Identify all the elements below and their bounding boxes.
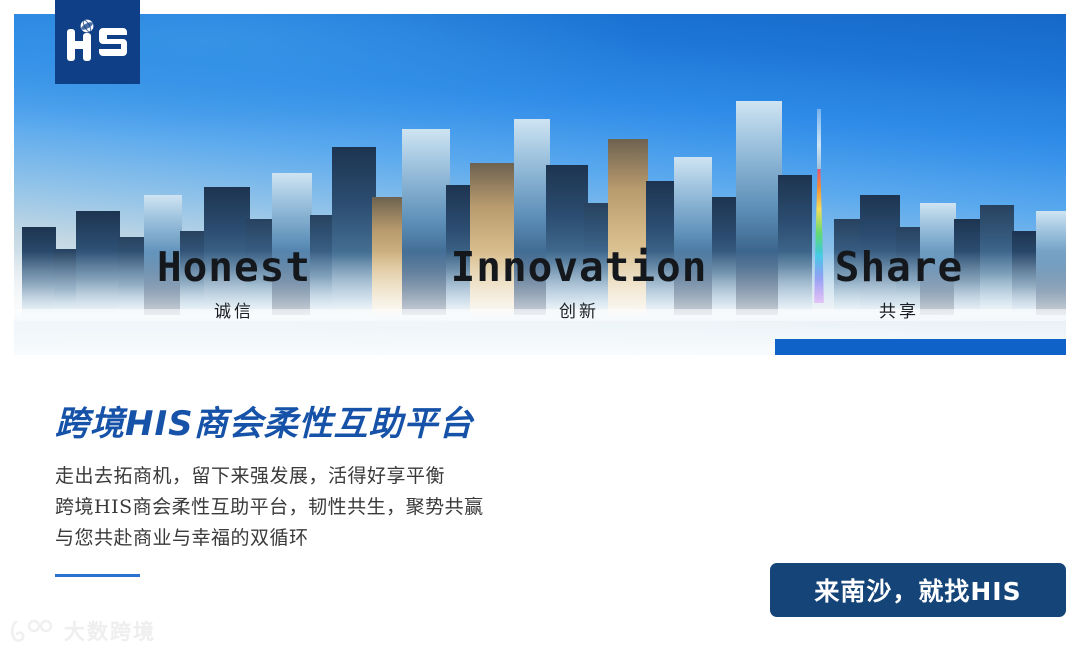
watermark: 大数跨境 bbox=[10, 616, 156, 646]
description-line-1: 走出去拓商机，留下来强发展，活得好享平衡 bbox=[55, 461, 675, 492]
banner-accent-bar bbox=[775, 339, 1066, 355]
slogan-honest-cn: 诚信 bbox=[114, 297, 354, 322]
slogan-share-en: Share bbox=[779, 247, 1019, 288]
page-title: 跨境HIS商会柔性互助平台 bbox=[55, 396, 474, 445]
slogan-share-cn: 共享 bbox=[779, 297, 1019, 322]
cta-button-label: 来南沙，就找HIS bbox=[814, 572, 1021, 608]
slogan-row: Honest 诚信 Innovation 创新 Share 共享 bbox=[14, 247, 1066, 333]
divider bbox=[55, 574, 140, 577]
description-paragraph: 走出去拓商机，留下来强发展，活得好享平衡 跨境HIS商会柔性互助平台，韧性共生，… bbox=[55, 461, 675, 553]
his-logo bbox=[55, 0, 140, 84]
slogan-honest-en: Honest bbox=[114, 247, 354, 288]
slogan-innovation-en: Innovation bbox=[434, 247, 724, 288]
his-logo-mark bbox=[65, 19, 131, 65]
hero-banner: Honest 诚信 Innovation 创新 Share 共享 bbox=[14, 14, 1066, 355]
slogan-innovation-cn: 创新 bbox=[434, 297, 724, 322]
cta-button[interactable]: 来南沙，就找HIS bbox=[770, 563, 1066, 617]
watermark-text: 大数跨境 bbox=[64, 616, 156, 646]
slogan-honest: Honest 诚信 bbox=[114, 247, 354, 322]
hs-monogram-icon bbox=[65, 19, 131, 65]
slogan-share: Share 共享 bbox=[779, 247, 1019, 322]
globe-icon bbox=[80, 19, 94, 33]
description-line-3: 与您共赴商业与幸福的双循环 bbox=[55, 523, 675, 554]
canton-tower-spire bbox=[817, 109, 821, 169]
dashu-logo-icon bbox=[10, 619, 56, 643]
slogan-innovation: Innovation 创新 bbox=[434, 247, 724, 322]
description-line-2: 跨境HIS商会柔性互助平台，韧性共生，聚势共赢 bbox=[55, 492, 675, 523]
